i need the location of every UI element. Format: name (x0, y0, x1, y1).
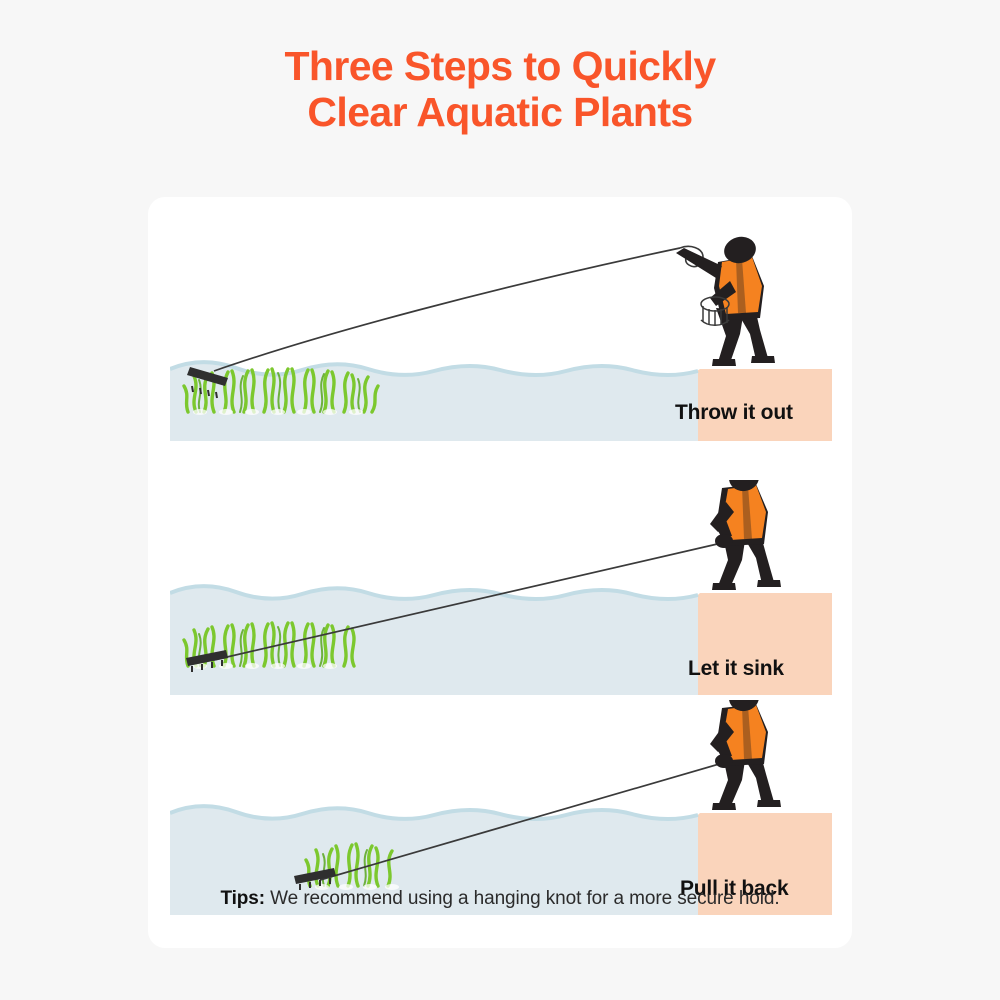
figure-shoe-front (712, 583, 736, 590)
page-title: Three Steps to Quickly Clear Aquatic Pla… (0, 44, 1000, 136)
figure-hand (715, 754, 733, 768)
title-line-2: Clear Aquatic Plants (0, 90, 1000, 136)
infographic-page: Three Steps to Quickly Clear Aquatic Pla… (0, 0, 1000, 1000)
step-panel-pull-it-back: Pull it back (170, 700, 832, 915)
figure-shoe-back (757, 800, 781, 807)
person-figure (676, 234, 775, 366)
figure-hand (715, 534, 733, 548)
figure-arm-throwing (676, 248, 722, 278)
person-figure (710, 480, 781, 590)
rope-line (214, 248, 680, 371)
figure-shoe-back (757, 580, 781, 587)
tips-text: We recommend using a hanging knot for a … (265, 888, 780, 909)
water-body (170, 586, 698, 695)
steps-card: Throw it out (148, 197, 852, 948)
figure-shoe-front (712, 359, 736, 366)
panel-label-let-it-sink: Let it sink (688, 657, 784, 681)
tips-row: Tips: We recommend using a hanging knot … (148, 888, 852, 910)
title-line-1: Three Steps to Quickly (0, 44, 1000, 90)
step-panel-let-it-sink: Let it sink (170, 480, 832, 695)
panel-label-throw-it-out: Throw it out (675, 401, 793, 425)
person-figure (710, 700, 781, 810)
figure-shoe-front (712, 803, 736, 810)
tips-label: Tips: (220, 888, 265, 909)
step-panel-throw-it-out: Throw it out (170, 226, 832, 441)
figure-shoe-back (751, 356, 775, 363)
